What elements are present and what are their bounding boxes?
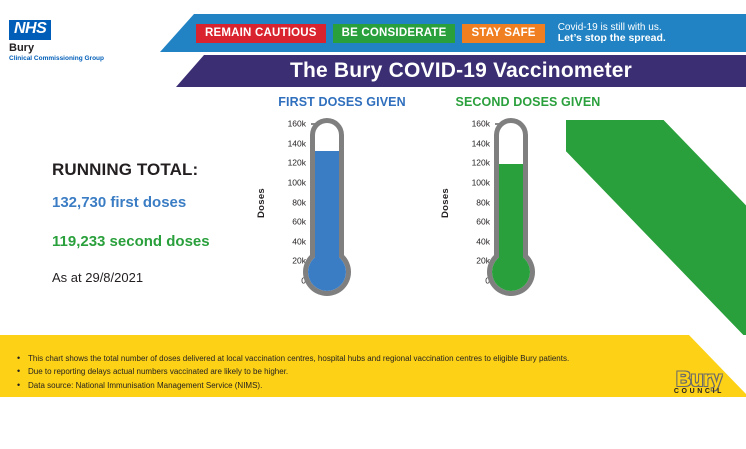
- campaign-banner-content: REMAIN CAUTIOUS BE CONSIDERATE STAY SAFE…: [196, 21, 666, 45]
- thermometer-first-body: Doses 020k40k60k80k100k120k140k160k: [256, 118, 428, 323]
- running-total-heading: RUNNING TOTAL:: [52, 160, 210, 180]
- axis-tick-label: 100k: [452, 177, 490, 187]
- tagline-line-2: Let’s stop the spread.: [558, 32, 666, 44]
- total-second-doses: 119,233 second doses: [52, 233, 210, 250]
- footnote-item: Data source: National Immunisation Manag…: [14, 380, 604, 393]
- axis-tick-label: 80k: [452, 197, 490, 207]
- nhs-logo: NHS Bury Clinical Commissioning Group: [9, 20, 104, 62]
- axis-tick-label: 40k: [268, 236, 306, 246]
- axis-tick-label: 160k: [268, 119, 306, 129]
- axis-tick-label: 100k: [268, 177, 306, 187]
- axis-tick-label: 40k: [452, 236, 490, 246]
- axis-tick-label: 0: [452, 276, 490, 286]
- pill-stay-safe: STAY SAFE: [462, 24, 544, 43]
- axis-tick-label: 120k: [268, 158, 306, 168]
- total-first-doses: 132,730 first doses: [52, 194, 210, 211]
- thermometer-second-body: Doses 020k40k60k80k100k120k140k160k: [440, 118, 616, 323]
- axis-tick-label: 80k: [268, 197, 306, 207]
- infographic-canvas: NHS Bury Clinical Commissioning Group RE…: [0, 0, 746, 419]
- footnote-item: Due to reporting delays actual numbers v…: [14, 366, 604, 379]
- running-total-panel: RUNNING TOTAL: 132,730 first doses 119,2…: [52, 160, 210, 285]
- thermometer-second-title: SECOND DOSES GIVEN: [440, 95, 616, 109]
- footnote-item: This chart shows the total number of dos…: [14, 353, 604, 366]
- pill-remain-cautious: REMAIN CAUTIOUS: [196, 24, 326, 43]
- thermometer-first-doses: FIRST DOSES GIVEN Doses 020k40k60k80k100…: [256, 95, 428, 323]
- thermometer-first-axis-label: Doses: [256, 188, 267, 218]
- bury-council-logo: Bury COUNCIL: [674, 370, 724, 395]
- thermometer-second-bulb: [492, 253, 530, 291]
- axis-tick-label: 20k: [268, 256, 306, 266]
- thermometer-second-axis-label: Doses: [440, 188, 451, 218]
- axis-tick-label: 140k: [268, 138, 306, 148]
- nhs-org-name: Bury: [9, 42, 104, 54]
- bury-council-wordmark: Bury: [674, 370, 724, 390]
- axis-tick-label: 160k: [452, 119, 490, 129]
- thermometer-second-tube: [494, 118, 528, 323]
- bury-council-subtext: COUNCIL: [674, 388, 724, 395]
- thermometer-first-title: FIRST DOSES GIVEN: [256, 95, 428, 109]
- axis-tick-label: 140k: [452, 138, 490, 148]
- page-title: The Bury COVID-19 Vaccinometer: [176, 55, 746, 87]
- nhs-mark: NHS: [9, 20, 51, 40]
- nhs-org-subtitle: Clinical Commissioning Group: [9, 55, 104, 62]
- footnotes: This chart shows the total number of dos…: [14, 353, 604, 394]
- axis-tick-label: 0: [268, 276, 306, 286]
- axis-tick-label: 60k: [268, 217, 306, 227]
- axis-tick-label: 120k: [452, 158, 490, 168]
- pill-be-considerate: BE CONSIDERATE: [333, 24, 456, 43]
- footnote-list: This chart shows the total number of dos…: [14, 353, 604, 393]
- thermometer-first-tube: [310, 118, 344, 323]
- campaign-tagline: Covid-19 is still with us. Let’s stop th…: [558, 22, 666, 45]
- axis-tick-label: 20k: [452, 256, 490, 266]
- thermometer-second-doses: SECOND DOSES GIVEN Doses 020k40k60k80k10…: [440, 95, 616, 323]
- as-at-date: As at 29/8/2021: [52, 270, 210, 285]
- thermometer-first-bulb: [308, 253, 346, 291]
- tagline-line-1: Covid-19 is still with us.: [558, 22, 662, 33]
- axis-tick-label: 60k: [452, 217, 490, 227]
